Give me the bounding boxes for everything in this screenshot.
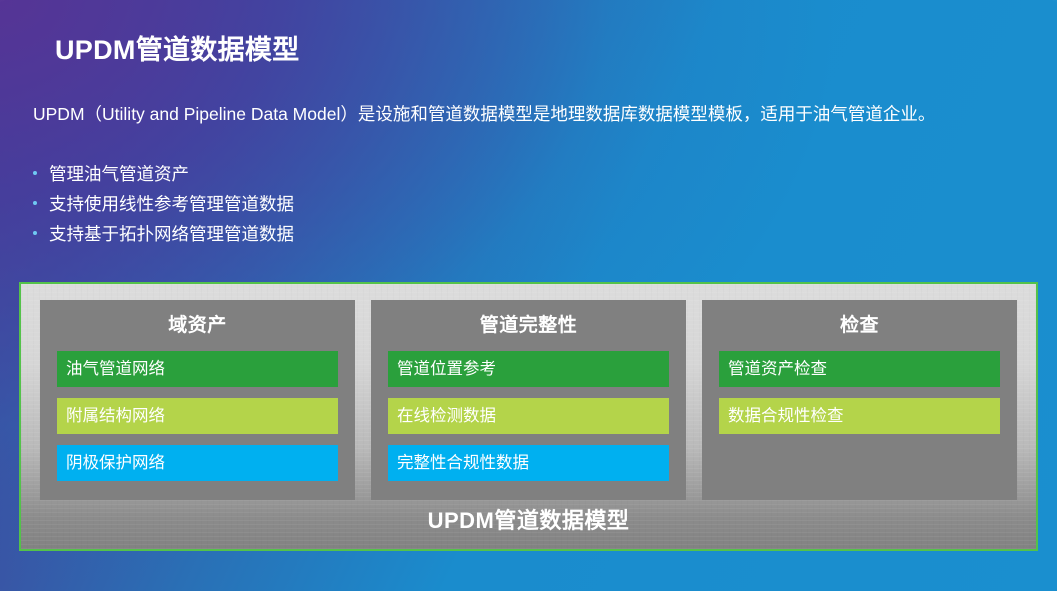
slide-canvas: UPDM管道数据模型 UPDM（Utility and Pipeline Dat… (0, 0, 1057, 591)
panel-footer-label: UPDM管道数据模型 (21, 503, 1036, 535)
bullet-label: 支持基于拓扑网络管理管道数据 (49, 221, 294, 246)
bullet-list: 管理油气管道资产 支持使用线性参考管理管道数据 支持基于拓扑网络管理管道数据 (33, 158, 633, 248)
diagram-column-inspection: 检查 管道资产检查 数据合规性检查 (702, 300, 1017, 500)
diagram-panel: 域资产 油气管道网络 附属结构网络 阴极保护网络 管道完整性 管道位置参考 在线… (19, 282, 1038, 551)
diagram-item: 在线检测数据 (388, 398, 669, 434)
diagram-column-domain-assets: 域资产 油气管道网络 附属结构网络 阴极保护网络 (40, 300, 355, 500)
page-title: UPDM管道数据模型 (55, 28, 300, 67)
diagram-columns: 域资产 油气管道网络 附属结构网络 阴极保护网络 管道完整性 管道位置参考 在线… (40, 300, 1017, 500)
diagram-item: 完整性合规性数据 (388, 445, 669, 481)
column-title: 检查 (719, 310, 1000, 337)
column-title: 管道完整性 (388, 310, 669, 337)
diagram-item: 管道位置参考 (388, 351, 669, 387)
bullet-dot-icon (33, 231, 37, 235)
column-title: 域资产 (57, 310, 338, 337)
bullet-label: 支持使用线性参考管理管道数据 (49, 191, 294, 216)
bullet-label: 管理油气管道资产 (49, 161, 189, 186)
bullet-dot-icon (33, 171, 37, 175)
diagram-item: 附属结构网络 (57, 398, 338, 434)
diagram-item: 阴极保护网络 (57, 445, 338, 481)
diagram-item: 油气管道网络 (57, 351, 338, 387)
bullet-dot-icon (33, 201, 37, 205)
diagram-item: 管道资产检查 (719, 351, 1000, 387)
list-item: 支持基于拓扑网络管理管道数据 (33, 218, 633, 248)
diagram-column-pipeline-integrity: 管道完整性 管道位置参考 在线检测数据 完整性合规性数据 (371, 300, 686, 500)
lead-paragraph: UPDM（Utility and Pipeline Data Model）是设施… (33, 102, 1001, 127)
diagram-item: 数据合规性检查 (719, 398, 1000, 434)
list-item: 管理油气管道资产 (33, 158, 633, 188)
list-item: 支持使用线性参考管理管道数据 (33, 188, 633, 218)
